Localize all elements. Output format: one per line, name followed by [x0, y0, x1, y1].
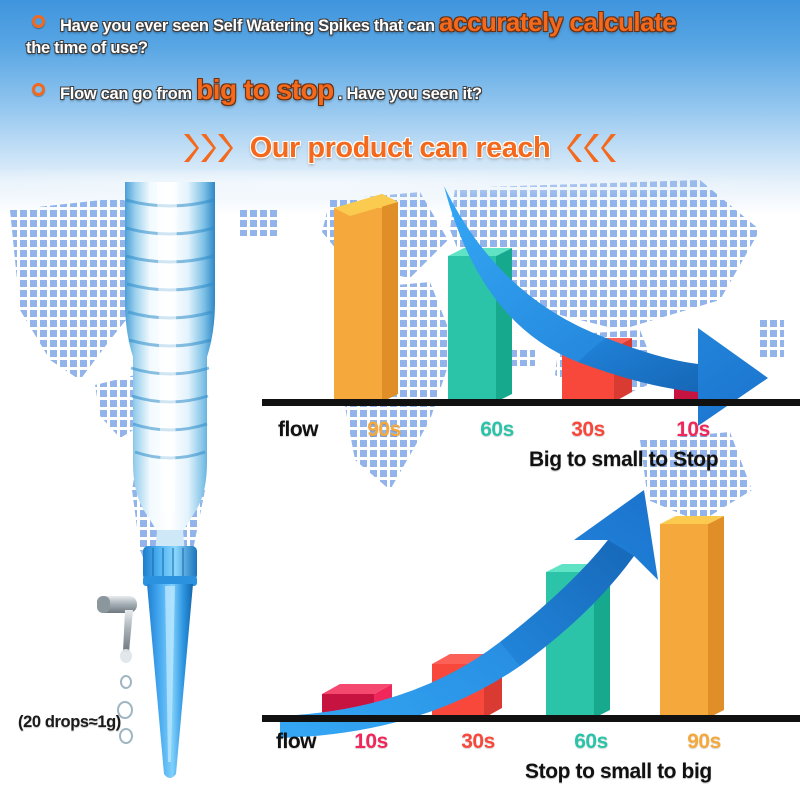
self-watering-spike-bottle-photo — [95, 182, 245, 782]
watering-spike-cone — [147, 584, 193, 778]
bar-90s — [660, 516, 724, 718]
baseline-axis — [262, 715, 800, 722]
water-drops — [118, 676, 132, 743]
flow-control-valve — [97, 596, 137, 663]
baseline-axis — [262, 399, 800, 406]
drops-conversion-note: (20 drops≈1g) — [18, 713, 121, 732]
chart-caption-top: Big to small to Stop — [529, 448, 718, 472]
tick-label-30s-bottom: 30s — [443, 730, 513, 754]
tick-label-10s-top: 10s — [658, 418, 728, 442]
infographic-page: Have you ever seen Self Watering Spikes … — [0, 0, 800, 800]
headline-line-2-continued: . Have you seen it? — [338, 85, 482, 103]
circle-outline-icon — [32, 15, 45, 28]
headline-block: Have you ever seen Self Watering Spikes … — [0, 0, 800, 104]
chevron-left-triple-icon — [566, 133, 617, 163]
tick-label-90s-bottom: 90s — [669, 730, 739, 754]
banner: Our product can reach — [0, 126, 800, 170]
water-bottle — [125, 182, 215, 554]
spike-collar — [143, 546, 197, 586]
tick-label-10s-bottom: 10s — [336, 730, 406, 754]
tick-label-60s-top: 60s — [462, 418, 532, 442]
tick-label-90s-top: 90s — [349, 418, 419, 442]
headline-line-1-text: Have you ever seen Self Watering Spikes … — [60, 17, 435, 35]
bar-90s — [334, 194, 398, 402]
headline-line-2: Flow can go from big to stop . Have you … — [26, 80, 800, 104]
tick-label-30s-top: 30s — [553, 418, 623, 442]
tick-label-60s-bottom: 60s — [556, 730, 626, 754]
circle-outline-icon — [32, 83, 45, 96]
chart-caption-bottom: Stop to small to big — [525, 760, 712, 784]
headline-line-2-emphasis: big to stop — [196, 74, 334, 105]
headline-line-2-text: Flow can go from — [60, 85, 192, 103]
headline-line-1-emphasis: accurately calculate — [439, 7, 676, 37]
axis-label-flow-top: flow — [278, 418, 318, 442]
banner-title: Our product can reach — [250, 132, 551, 165]
chevron-right-triple-icon — [183, 133, 234, 163]
headline-line-1-continued: the time of use? — [26, 38, 800, 58]
headline-line-1: Have you ever seen Self Watering Spikes … — [26, 12, 800, 58]
axis-label-flow-bottom: flow — [276, 730, 316, 754]
